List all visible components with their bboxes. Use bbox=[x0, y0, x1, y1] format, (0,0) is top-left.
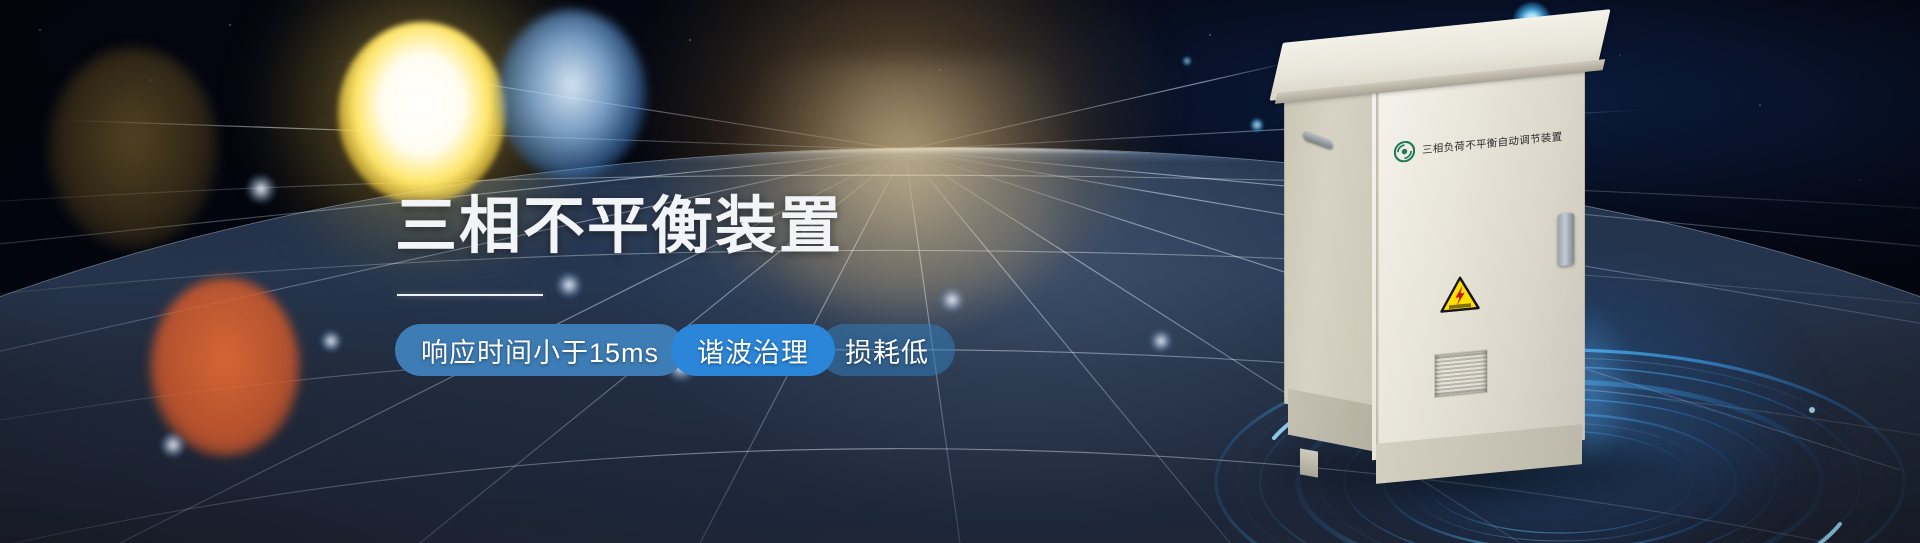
door-seam bbox=[1376, 92, 1379, 460]
cabinet-leg-left bbox=[1300, 448, 1318, 477]
feature-tag-list: 响应时间小于15ms 谐波治理 损耗低 bbox=[395, 324, 1135, 376]
banner-headline: 三相不平衡装置 bbox=[395, 196, 1135, 258]
electrical-hazard-warning-icon bbox=[1440, 274, 1480, 314]
feature-tag-harmonic[interactable]: 谐波治理 bbox=[671, 324, 835, 376]
feature-tag-response-time[interactable]: 响应时间小于15ms bbox=[395, 324, 685, 376]
cabinet-lock-plate bbox=[1558, 213, 1574, 267]
hero-banner: 三相负荷不平衡自动调节装置 三相不平衡装置 响应时间小于15ms 谐波治理 损耗… bbox=[0, 0, 1920, 543]
cabinet-vent-grille bbox=[1434, 349, 1488, 398]
product-cabinet: 三相负荷不平衡自动调节装置 bbox=[1302, 26, 1632, 496]
feature-tag-low-loss[interactable]: 损耗低 bbox=[819, 324, 955, 376]
cabinet-side-handle-icon bbox=[1303, 130, 1333, 150]
headline-divider bbox=[397, 294, 543, 296]
company-logo-icon bbox=[1394, 140, 1415, 163]
cabinet-side-panel bbox=[1284, 63, 1377, 420]
banner-copy: 三相不平衡装置 响应时间小于15ms 谐波治理 损耗低 bbox=[395, 196, 1135, 376]
cabinet-front-door: 三相负荷不平衡自动调节装置 bbox=[1372, 72, 1585, 461]
